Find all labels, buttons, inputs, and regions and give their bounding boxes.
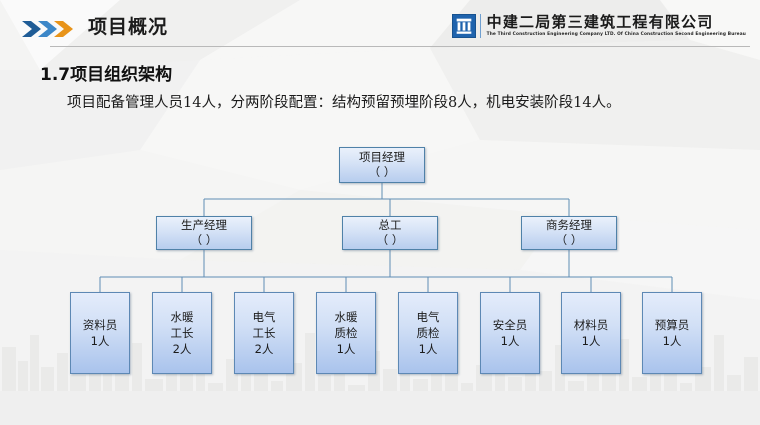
section-paragraph: 项目配备管理人员14人，分两阶段配置：结构预留预埋阶段8人，机电安装阶段14人。 <box>38 92 664 115</box>
logo-separator <box>480 14 481 38</box>
org-node-commerce-manager[interactable]: 商务经理 （ ） <box>521 216 617 250</box>
org-node-electrical-qc[interactable]: 电气 质检 1人 <box>398 292 458 374</box>
org-node-title: 总工 <box>379 218 402 233</box>
company-logo: 中建二局第三建筑工程有限公司 The Third Construction En… <box>452 14 746 44</box>
org-node-count: 1人 <box>337 341 356 357</box>
slide-canvas: 项目概况 中建二局第三建筑工程有限公司 The Third Constructi… <box>0 0 760 425</box>
org-node-material-officer[interactable]: 材料员 1人 <box>561 292 621 374</box>
org-node-count: 2人 <box>173 341 192 357</box>
org-node-count: 1人 <box>663 333 682 349</box>
org-node-title: 生产经理 <box>181 218 227 233</box>
org-node-count: 1人 <box>91 333 110 349</box>
org-node-archivist[interactable]: 资料员 1人 <box>70 292 130 374</box>
org-node-count: 1人 <box>582 333 601 349</box>
org-node-name: （ ） <box>369 165 396 180</box>
org-node-line2: 工长 <box>253 325 276 341</box>
page-title: 项目概况 <box>88 14 168 40</box>
org-node-count: 1人 <box>501 333 520 349</box>
org-node-line2: 质检 <box>335 325 358 341</box>
org-node-line1: 电气 <box>417 309 440 325</box>
org-node-chief-engineer[interactable]: 总工 （ ） <box>342 216 438 250</box>
org-node-line1: 资料员 <box>83 317 118 333</box>
org-node-line1: 材料员 <box>574 317 609 333</box>
org-node-count: 1人 <box>419 341 438 357</box>
org-node-budget-officer[interactable]: 预算员 1人 <box>642 292 702 374</box>
org-node-title: 商务经理 <box>546 218 592 233</box>
org-node-project-manager[interactable]: 项目经理 （ ） <box>339 147 425 183</box>
org-node-line2: 质检 <box>417 325 440 341</box>
org-node-line1: 水暖 <box>335 309 358 325</box>
chevron-group-icon <box>22 19 78 39</box>
org-node-safety-officer[interactable]: 安全员 1人 <box>480 292 540 374</box>
slide-header: 项目概况 中建二局第三建筑工程有限公司 The Third Constructi… <box>0 0 760 48</box>
org-node-hvac-foreman[interactable]: 水暖 工长 2人 <box>152 292 212 374</box>
org-node-name: （ ） <box>377 233 404 248</box>
org-node-line1: 安全员 <box>493 317 528 333</box>
org-node-line1: 水暖 <box>171 309 194 325</box>
org-node-name: （ ） <box>556 233 583 248</box>
org-node-line2: 工长 <box>171 325 194 341</box>
org-node-title: 项目经理 <box>359 150 405 165</box>
org-node-count: 2人 <box>255 341 274 357</box>
org-chart: 项目经理 （ ） 生产经理 （ ） 总工 （ ） 商务经理 （ ） 资料员 1人… <box>0 140 760 390</box>
logo-text-block: 中建二局第三建筑工程有限公司 The Third Construction En… <box>487 14 746 38</box>
org-node-hvac-qc[interactable]: 水暖 质检 1人 <box>316 292 376 374</box>
org-node-name: （ ） <box>191 233 218 248</box>
org-node-line1: 电气 <box>253 309 276 325</box>
header-divider <box>50 46 750 47</box>
org-node-line1: 预算员 <box>655 317 690 333</box>
company-name-en: The Third Construction Engineering Compa… <box>487 31 746 38</box>
company-name-cn: 中建二局第三建筑工程有限公司 <box>487 14 746 31</box>
org-node-electrical-foreman[interactable]: 电气 工长 2人 <box>234 292 294 374</box>
cscec-emblem-icon <box>452 14 476 38</box>
section-heading: 1.7项目组织架构 <box>40 60 172 85</box>
org-node-production-manager[interactable]: 生产经理 （ ） <box>156 216 252 250</box>
